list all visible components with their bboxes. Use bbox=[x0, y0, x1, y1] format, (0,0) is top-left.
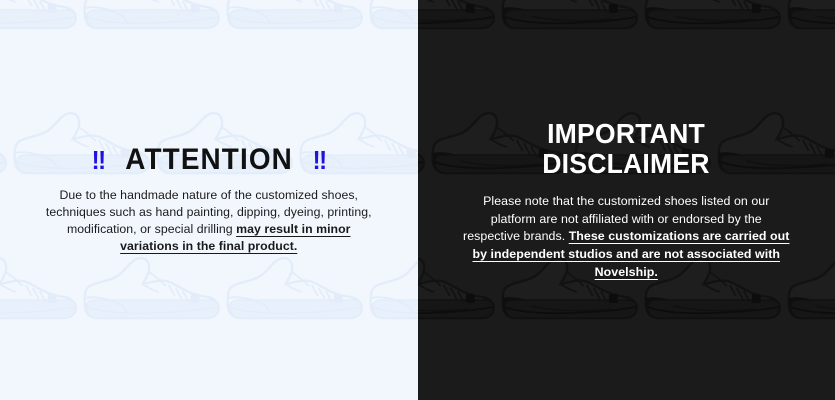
disclaimer-body: Please note that the customized shoes li… bbox=[461, 193, 791, 281]
attention-body: Due to the handmade nature of the custom… bbox=[44, 187, 374, 256]
disclaimer-content: IMPORTANT DISCLAIMER Please note that th… bbox=[461, 119, 791, 281]
disclaimer-heading: IMPORTANT DISCLAIMER bbox=[461, 119, 791, 179]
disclaimer-heading-line2: DISCLAIMER bbox=[470, 149, 784, 179]
attention-panel: ‼ ATTENTION ‼ Due to the handmade nature… bbox=[0, 0, 418, 400]
double-exclamation-left-icon: ‼ bbox=[91, 147, 105, 173]
double-exclamation-right-icon: ‼ bbox=[312, 147, 326, 173]
disclaimer-panel: IMPORTANT DISCLAIMER Please note that th… bbox=[418, 0, 835, 400]
attention-heading-text: ATTENTION bbox=[125, 145, 293, 175]
disclaimer-heading-line1: IMPORTANT bbox=[470, 119, 784, 149]
attention-content: ‼ ATTENTION ‼ Due to the handmade nature… bbox=[44, 145, 374, 256]
attention-heading: ‼ ATTENTION ‼ bbox=[44, 145, 374, 175]
disclaimer-banner: ‼ ATTENTION ‼ Due to the handmade nature… bbox=[0, 0, 835, 400]
